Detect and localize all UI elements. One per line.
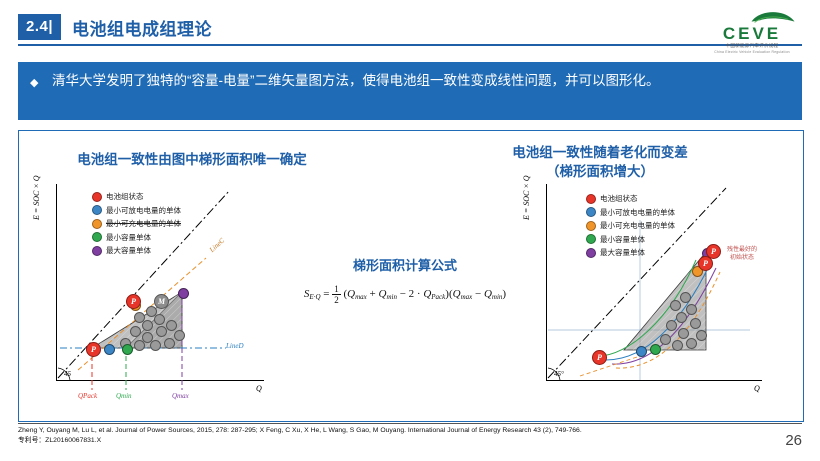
cell-dot — [150, 340, 161, 351]
cell-dot-min-capacity — [122, 344, 133, 355]
legend-label: 最小可放电电量的单体 — [600, 207, 675, 218]
slide: 2.4| 电池组电成组理论 CEVE 中国新能源汽车评价规程 China Ele… — [0, 0, 820, 461]
car-swoosh-icon — [750, 10, 796, 24]
cell-dot — [660, 334, 671, 345]
legend-dot-max-capacity-icon — [586, 248, 596, 258]
right-panel-title-line2: （梯形面积增大） — [430, 162, 770, 181]
legend-item: 最小可放电电量的单体 — [92, 204, 181, 218]
legend-item: 最小可充电电量的单体 — [586, 219, 675, 233]
brand-logo: CEVE 中国新能源汽车评价规程 China Electric Vehicle … — [698, 8, 806, 44]
cell-dot-min-dischargeable — [104, 344, 115, 355]
cell-dot — [672, 340, 683, 351]
formula-numerator: 1 — [332, 284, 341, 295]
legend-item: 最小容量单体 — [92, 231, 181, 245]
cell-dot — [166, 320, 177, 331]
left-vector-diagram: E = SOC × Q Q 45 — [30, 180, 270, 410]
cell-dot — [696, 330, 707, 341]
logo-subtitle-en: China Electric Vehicle Evaluation Regula… — [698, 49, 806, 55]
pin-pack-state-lower: P — [86, 342, 101, 357]
cell-dot — [690, 318, 701, 329]
cell-dot — [676, 312, 687, 323]
right-vector-diagram: E = SOC × Q Q 45° — [520, 180, 770, 410]
reference-text: Zheng Y, Ouyang M, Lu L, et al. Journal … — [18, 426, 788, 436]
cell-dot — [174, 330, 185, 341]
footer-reference: Zheng Y, Ouyang M, Lu L, et al. Journal … — [18, 426, 788, 446]
cell-dot — [134, 340, 145, 351]
legend-dot-min-dischargeable-icon — [586, 207, 596, 217]
legend-dot-min-dischargeable-icon — [92, 205, 102, 215]
left-panel-title: 电池组一致性由图中梯形面积唯一确定 — [22, 148, 362, 168]
legend-label: 最小容量单体 — [106, 232, 151, 243]
legend-label: 最大容量单体 — [106, 245, 151, 256]
cell-dot — [142, 320, 153, 331]
legend-item: 最小可充电电量的单体 — [92, 217, 181, 231]
x-tick-qpack: QPack — [78, 392, 97, 400]
legend-item: 电池组状态 — [586, 192, 675, 206]
right-panel-title: 电池组一致性随着老化而变差 （梯形面积增大） — [430, 143, 770, 181]
aging-annotation-line1: 残性最好的 — [727, 247, 757, 253]
formula-fraction: 1 2 — [332, 284, 341, 305]
cell-dot — [156, 326, 167, 337]
pin-pack-state-origin: P — [592, 350, 607, 365]
legend-dot-min-capacity-icon — [586, 234, 596, 244]
formula-expression: SE·Q = 1 2 (Qmax + Qmin − 2 · QPack)(Qma… — [300, 284, 510, 305]
formula-title: 梯形面积计算公式 — [300, 255, 510, 274]
legend-label: 最大容量单体 — [600, 247, 645, 258]
line-d-label: LineD — [226, 342, 244, 350]
cell-dot-min-dischargeable — [636, 346, 647, 357]
cell-dot — [680, 292, 691, 303]
right-legend: 电池组状态 最小可放电电量的单体 最小可充电电量的单体 最小容量单体 最大容量单… — [586, 192, 675, 260]
key-point-text: 清华大学发明了独特的“容量-电量”二维矢量图方法，使得电池组一致性变成线性问题，… — [52, 70, 787, 91]
cell-dot — [670, 300, 681, 311]
right-panel-title-line1: 电池组一致性随着老化而变差 — [430, 143, 770, 162]
cell-dot-min-capacity — [650, 344, 661, 355]
legend-dot-pack-state-icon — [92, 192, 102, 202]
cell-dot — [154, 314, 165, 325]
legend-label: 最小可充电电量的单体 — [600, 220, 675, 231]
page-number: 26 — [785, 432, 802, 449]
x-tick-qmin: Qmin — [116, 392, 132, 400]
legend-label: 最小可放电电量的单体 — [106, 205, 181, 216]
legend-label: 最小容量单体 — [600, 234, 645, 245]
cell-dot — [130, 326, 141, 337]
legend-item: 最小容量单体 — [586, 233, 675, 247]
aging-annotation-line2: 初始状态 — [730, 255, 754, 261]
pin-midpoint: M — [154, 294, 169, 309]
cell-dot — [164, 338, 175, 349]
legend-item: 最大容量单体 — [92, 244, 181, 258]
legend-dot-min-capacity-icon — [92, 232, 102, 242]
formula-equals: = — [323, 288, 329, 300]
legend-dot-max-capacity-icon — [92, 246, 102, 256]
cell-dot — [686, 304, 697, 315]
x-tick-qmax: Qmax — [172, 392, 189, 400]
key-point-band: ◆ 清华大学发明了独特的“容量-电量”二维矢量图方法，使得电池组一致性变成线性问… — [18, 62, 802, 120]
page-title: 电池组电成组理论 — [72, 15, 212, 40]
logo-wordmark: CEVE — [698, 25, 806, 42]
formula-rhs: (Qmax + Qmin − 2 · QPack)(Qmax − Qmin) — [343, 288, 506, 300]
pin-pack-state-upper: P — [126, 294, 141, 309]
cell-dot — [666, 320, 677, 331]
patent-text: 专利号：ZL20160067831.X — [18, 436, 788, 446]
left-legend: 电池组状态 最小可放电电量的单体 最小可充电电量的单体 最小容量单体 最大容量单… — [92, 190, 181, 258]
legend-dot-min-chargeable-icon — [92, 219, 102, 229]
legend-dot-pack-state-icon — [586, 194, 596, 204]
header-divider — [18, 44, 802, 46]
formula-denominator: 2 — [332, 295, 341, 305]
diamond-bullet-icon: ◆ — [30, 76, 38, 89]
formula-lhs-sub: E·Q — [309, 293, 320, 301]
legend-item: 电池组状态 — [92, 190, 181, 204]
legend-item: 最小可放电电量的单体 — [586, 206, 675, 220]
footer-divider — [18, 423, 802, 424]
legend-label: 最小可充电电量的单体 — [106, 218, 181, 229]
section-number-badge: 2.4| — [18, 14, 61, 40]
pin-pack-state-initial: P — [706, 244, 721, 259]
legend-item: 最大容量单体 — [586, 246, 675, 260]
cell-dot — [686, 338, 697, 349]
aging-annotation: 残性最好的 初始状态 — [720, 246, 764, 262]
logo-subtitle-cn: 中国新能源汽车评价规程 — [698, 42, 806, 49]
legend-label: 电池组状态 — [106, 191, 144, 202]
cell-dot-max-capacity — [178, 288, 189, 299]
legend-dot-min-chargeable-icon — [586, 221, 596, 231]
legend-label: 电池组状态 — [600, 193, 638, 204]
cell-dot — [678, 328, 689, 339]
formula-card: 梯形面积计算公式 SE·Q = 1 2 (Qmax + Qmin − 2 · Q… — [300, 255, 510, 305]
